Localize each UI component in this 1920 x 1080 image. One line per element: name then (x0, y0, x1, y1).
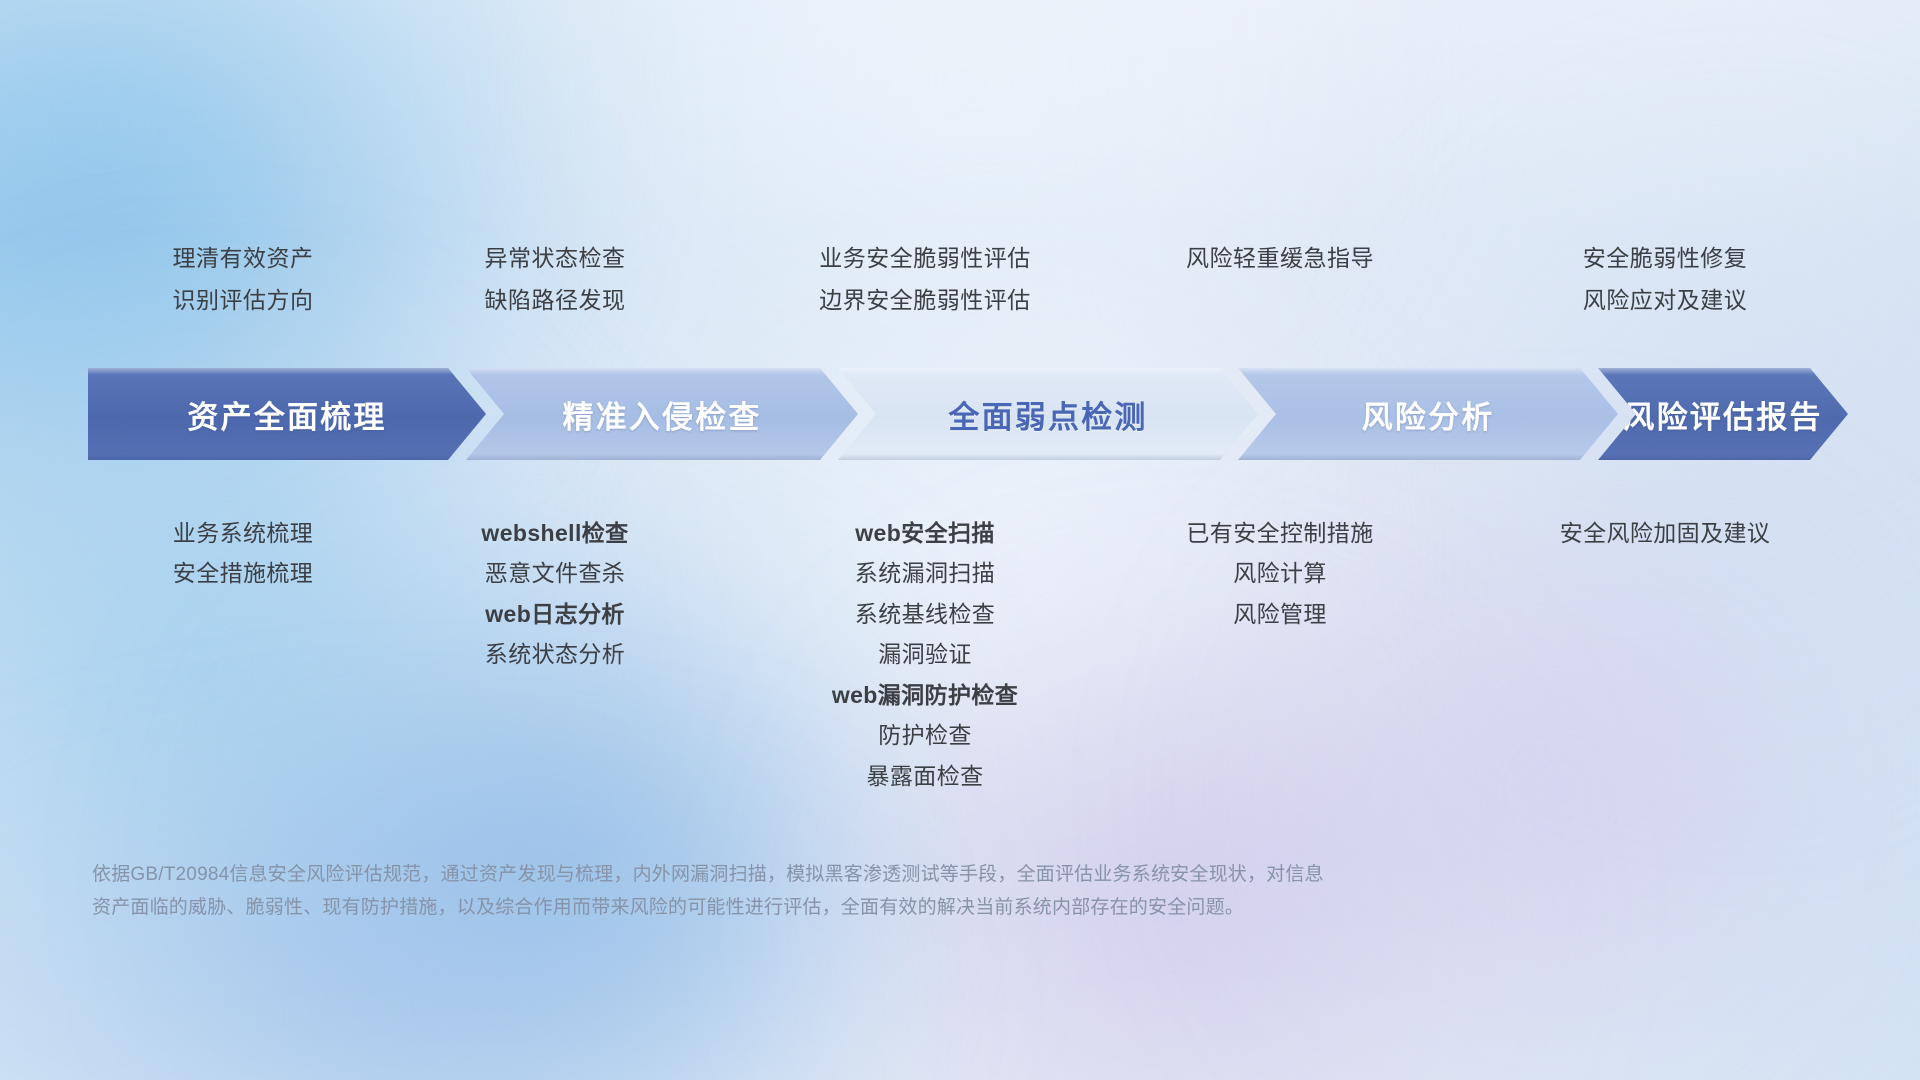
note-text: 防护检查 (690, 715, 1160, 755)
note-text-em: webshell检查 (481, 520, 628, 546)
note-text: 风险计算 (1085, 553, 1475, 593)
note-text: 边界安全脆弱性评估 (690, 280, 1160, 322)
stage-title: 全面弱点检测 (948, 392, 1147, 437)
stage-4-top-notes: 风险轻重缓急指导 (1085, 238, 1475, 280)
footer-line-1: 依据GB/T20984信息安全风险评估规范，通过资产发现与梳理，内外网漏洞扫描，… (92, 858, 1592, 891)
stage-chevron-4[interactable]: 风险分析 (1238, 368, 1618, 460)
chevron-shadow (1238, 454, 1618, 460)
note-text: 安全脆弱性修复 (1470, 238, 1860, 280)
note-text-em: web安全扫描 (855, 520, 995, 546)
chevron-highlight (838, 368, 1258, 375)
stage-5-bottom-notes: 安全风险加固及建议 (1470, 513, 1860, 553)
note-text: 风险管理 (1085, 594, 1475, 634)
stage-5-top-notes: 安全脆弱性修复 风险应对及建议 (1470, 238, 1860, 322)
stage-2-top-notes: 异常状态检查 缺陷路径发现 (370, 238, 740, 322)
note-text: 缺陷路径发现 (370, 280, 740, 322)
note-text: 已有安全控制措施 (1085, 513, 1475, 553)
stage-4-bottom-notes: 已有安全控制措施 风险计算 风险管理 (1085, 513, 1475, 634)
note-text: web日志分析 (370, 594, 740, 634)
stage-title: 风险分析 (1362, 392, 1495, 437)
stage-title: 资产全面梳理 (187, 392, 386, 437)
footer-line-2: 资产面临的威胁、脆弱性、现有防护措施，以及综合作用而带来风险的可能性进行评估，全… (92, 891, 1592, 924)
footer-description: 依据GB/T20984信息安全风险评估规范，通过资产发现与梳理，内外网漏洞扫描，… (92, 858, 1592, 925)
note-text: 风险轻重缓急指导 (1085, 238, 1475, 280)
stage-chevron-1[interactable]: 资产全面梳理 (88, 368, 486, 460)
note-text-em: web日志分析 (485, 601, 625, 627)
note-text: web漏洞防护检查 (690, 675, 1160, 715)
note-text: 系统状态分析 (370, 634, 740, 674)
chevron-highlight (88, 368, 486, 375)
note-text-em: web漏洞防护检查 (832, 682, 1018, 708)
stage-2-bottom-notes: webshell检查 恶意文件查杀 web日志分析 系统状态分析 (370, 513, 740, 675)
chevron-highlight (1238, 368, 1618, 375)
stage-chevron-2[interactable]: 精准入侵检查 (466, 368, 858, 460)
process-arrow-band: 资产全面梳理 精准入侵检查 全面弱点检测 风险分析 风险评估报告 (88, 368, 1848, 460)
note-text: 风险应对及建议 (1470, 280, 1860, 322)
chevron-highlight (1598, 368, 1848, 375)
chevron-highlight (466, 368, 858, 375)
note-text: 异常状态检查 (370, 238, 740, 280)
stage-chevron-5[interactable]: 风险评估报告 (1598, 368, 1848, 460)
process-diagram: 理清有效资产 识别评估方向 异常状态检查 缺陷路径发现 业务安全脆弱性评估 边界… (0, 0, 1920, 1080)
chevron-shadow (838, 454, 1258, 460)
chevron-shadow (88, 454, 486, 460)
chevron-shadow (1598, 454, 1848, 460)
stage-title: 风险评估报告 (1623, 392, 1822, 437)
note-text: webshell检查 (370, 513, 740, 553)
note-text: 暴露面检查 (690, 756, 1160, 796)
stage-chevron-3[interactable]: 全面弱点检测 (838, 368, 1258, 460)
note-text: 恶意文件查杀 (370, 553, 740, 593)
stage-title: 精准入侵检查 (562, 392, 761, 437)
chevron-shadow (466, 454, 858, 460)
note-text: 安全风险加固及建议 (1470, 513, 1860, 553)
note-text: 漏洞验证 (690, 634, 1160, 674)
